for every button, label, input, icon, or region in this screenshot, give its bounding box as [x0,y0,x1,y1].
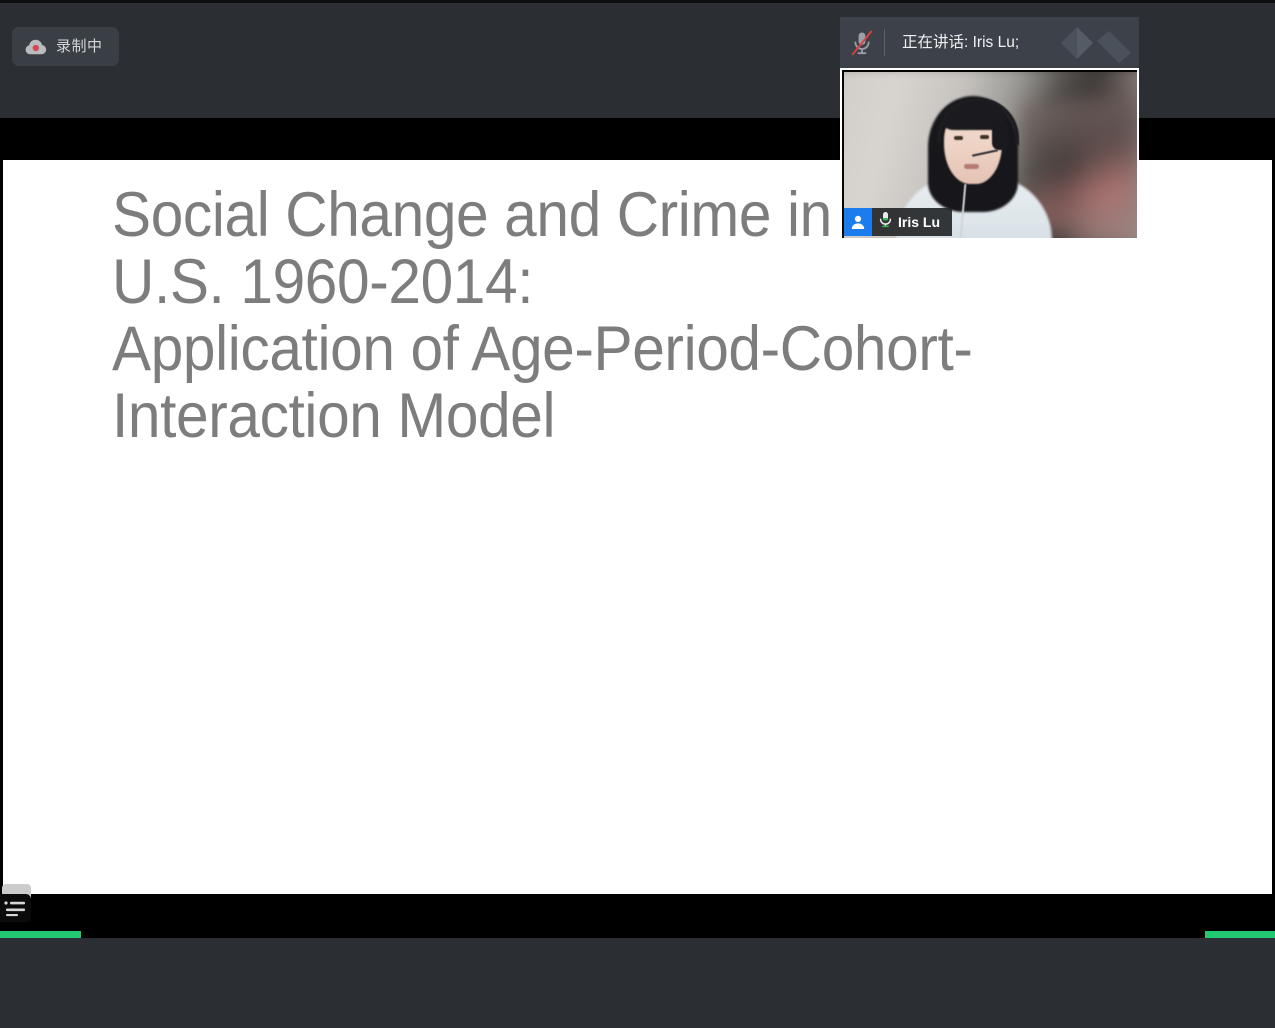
participant-nameplate-body: Iris Lu [872,208,952,236]
participant-nameplate: Iris Lu [844,208,952,236]
speaking-now-label: 正在讲话: Iris Lu; [902,35,1139,51]
active-speaker-banner[interactable]: 正在讲话: Iris Lu; [840,17,1139,68]
accent-bar-bottom-right [1205,931,1275,938]
participant-headset-earcup [992,120,1009,150]
zoom-meeting-stage: 录制中 Social Change and Crime in the U.S. … [0,0,1275,1028]
banner-divider [884,29,885,56]
mic-muted-icon[interactable] [840,30,884,56]
participant-name-label: Iris Lu [898,215,940,229]
mic-active-icon [879,211,892,233]
bottom-toolbar [0,938,1275,1028]
recording-cloud-icon [25,39,47,55]
accent-bar-bottom-left [0,931,81,938]
participant-mouth [964,164,979,169]
participant-person-icon [844,208,872,236]
recording-indicator[interactable]: 录制中 [12,27,119,66]
floating-video-panel[interactable]: 正在讲话: Iris Lu; [840,17,1139,240]
recording-label: 录制中 [56,39,103,54]
participant-video-tile[interactable]: Iris Lu [840,68,1139,240]
slide-list-menu-icon[interactable] [0,894,31,922]
